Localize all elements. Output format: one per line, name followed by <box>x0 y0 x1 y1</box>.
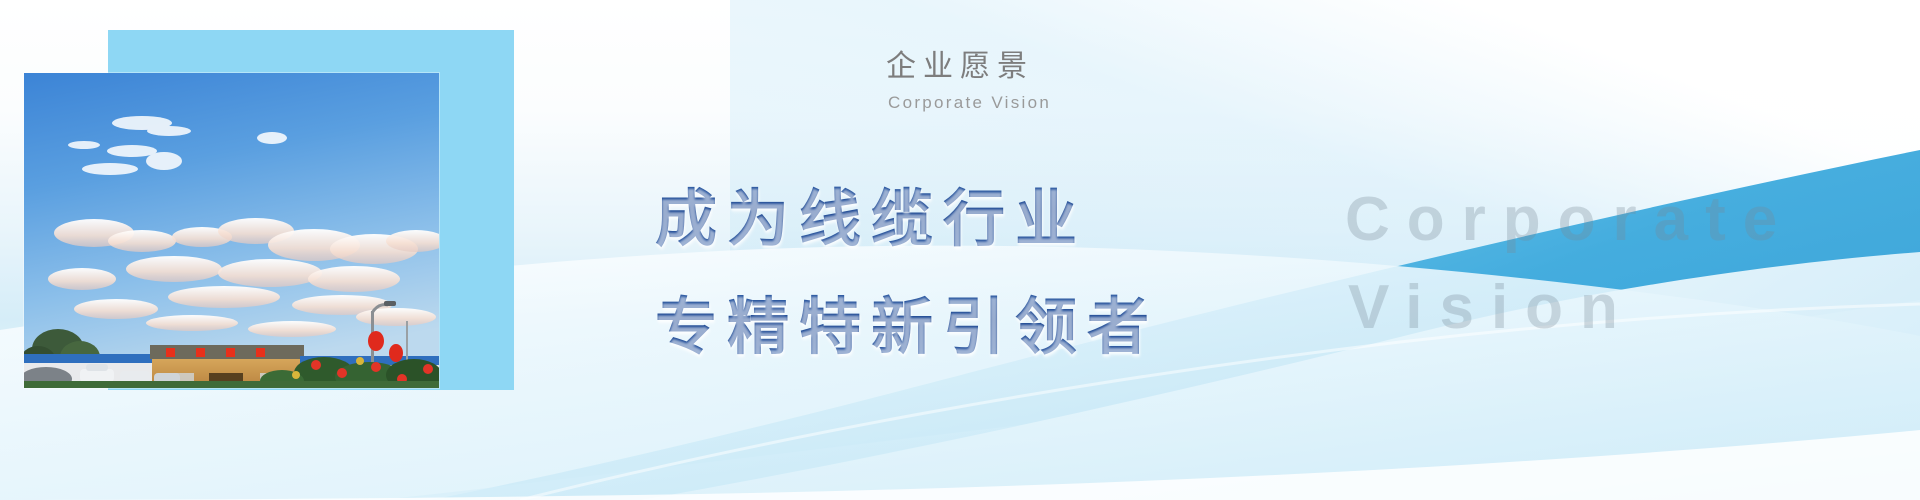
company-photo-illustration <box>24 73 439 388</box>
headline: 成为线缆行业 专精特新引领者 <box>655 172 1415 374</box>
section-title-cn: 企业愿景 <box>886 48 1316 86</box>
corporate-vision-banner: Corporate Vision 企业愿景 Corporate Vision 成… <box>0 0 1920 500</box>
photo-roof-left <box>24 354 156 363</box>
company-photo <box>24 73 439 388</box>
photo-lawn <box>24 381 439 388</box>
section-label: 企业愿景 Corporate Vision <box>886 48 1316 115</box>
headline-line-2: 专精特新引领者 <box>655 280 1415 374</box>
section-title-en: Corporate Vision <box>888 90 1316 116</box>
headline-line-1: 成为线缆行业 <box>655 172 1415 266</box>
